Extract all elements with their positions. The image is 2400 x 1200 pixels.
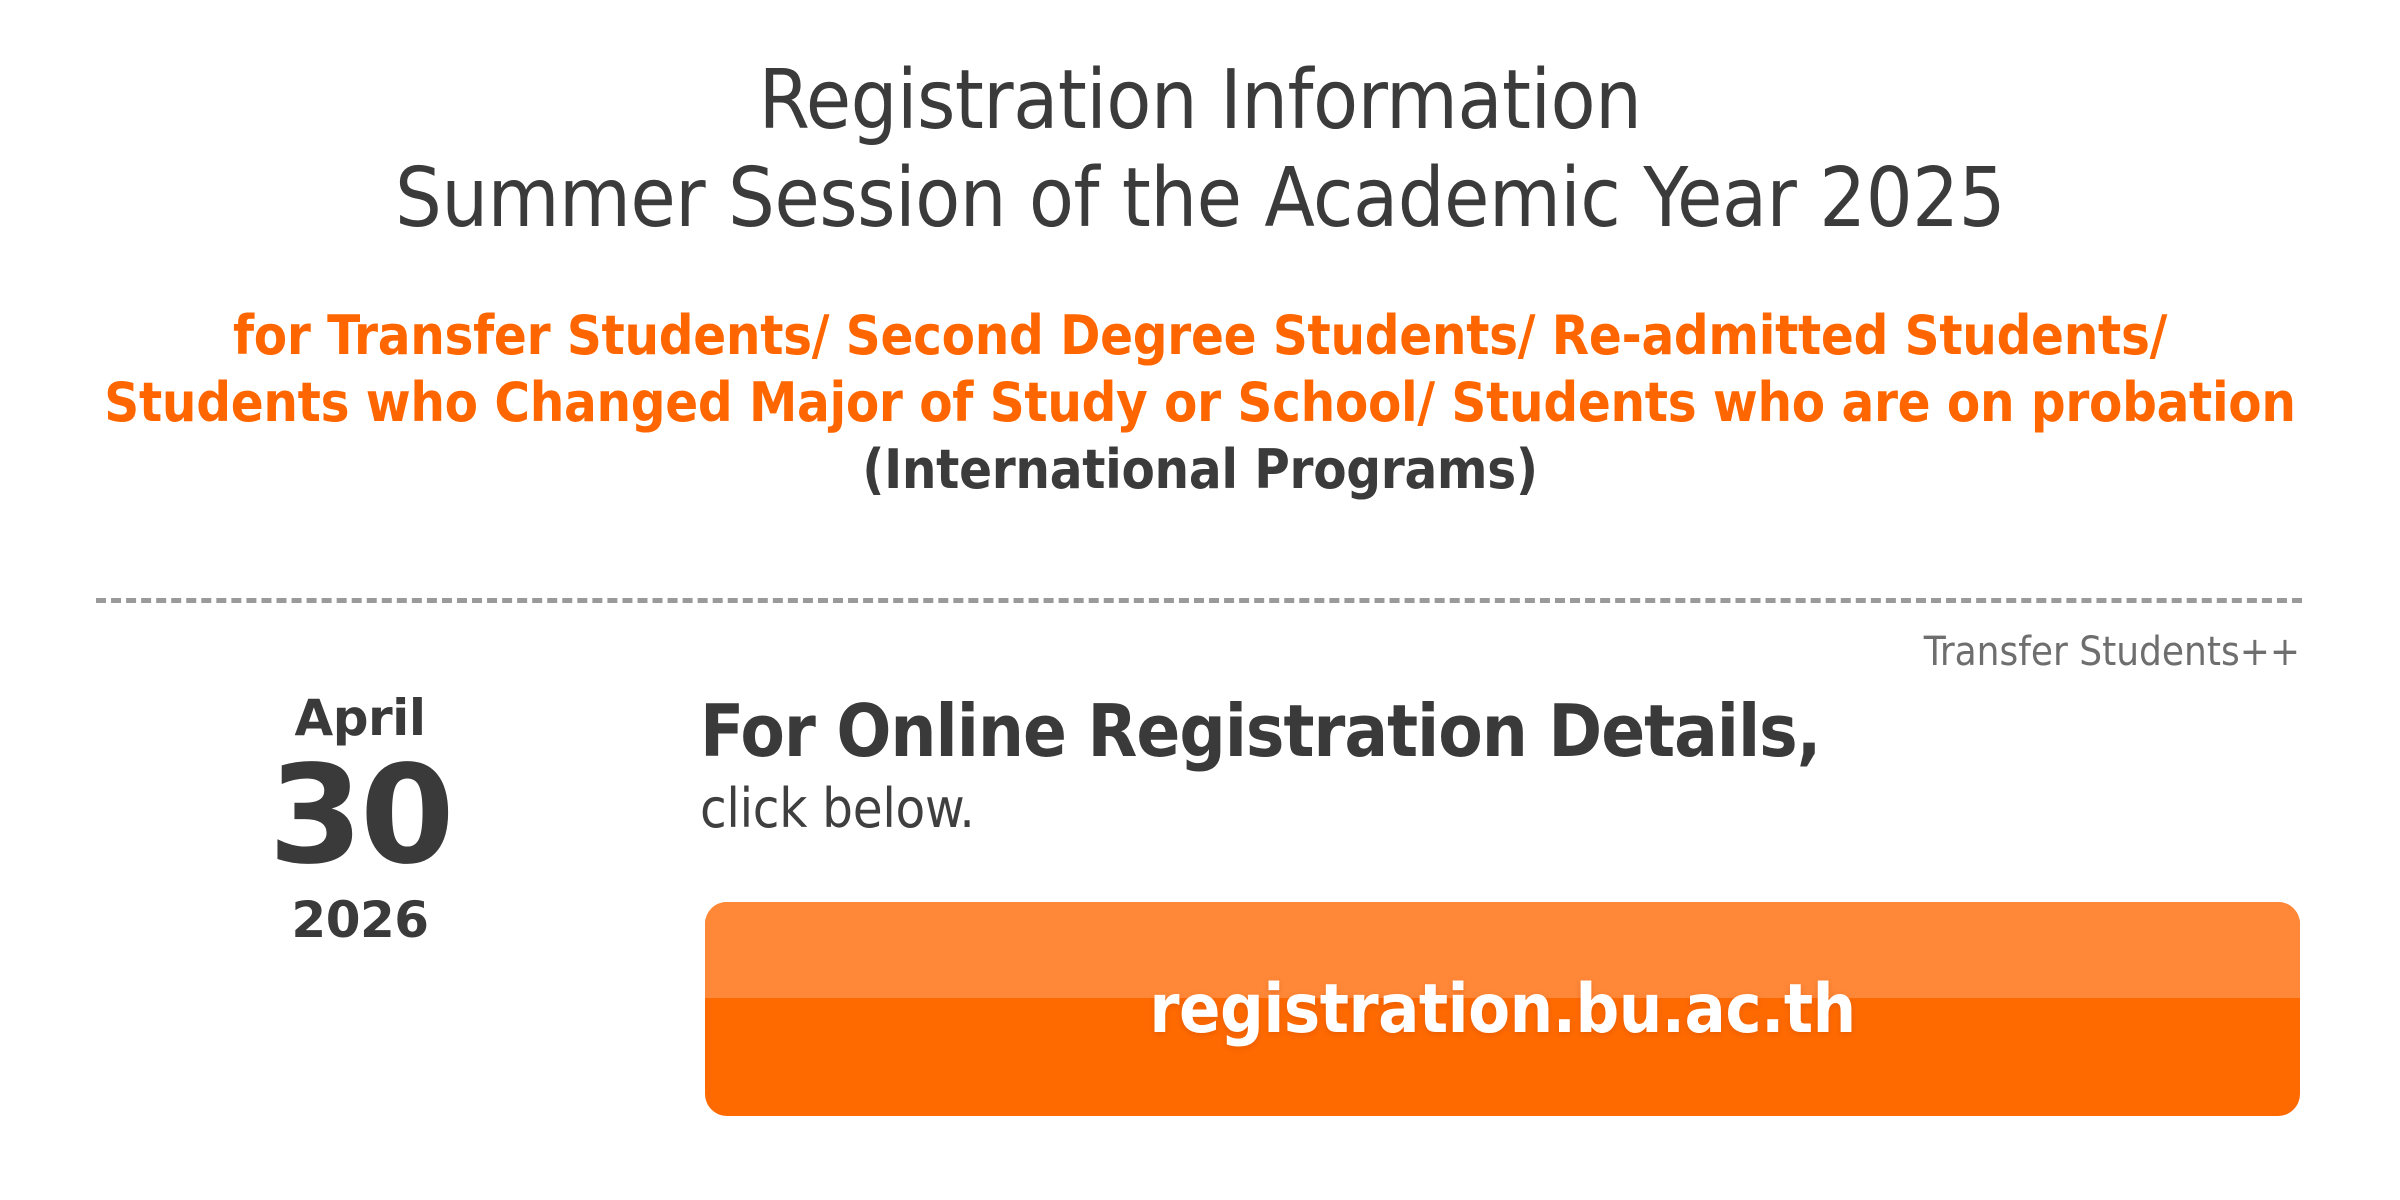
page-subtitle-block: for Transfer Students/ Second Degree Stu… (0, 302, 2400, 503)
deadline-year: 2026 (160, 892, 560, 948)
page-subtitle-line-3: (International Programs) (0, 436, 2400, 503)
page-title-line-1: Registration Information (0, 52, 2400, 150)
cta-text-block: For Online Registration Details, click b… (700, 690, 2310, 842)
cta-subtext: click below. (700, 776, 2310, 842)
registration-url-button[interactable]: registration.bu.ac.th (705, 902, 2300, 1116)
deadline-day: 30 (160, 754, 560, 878)
section-divider (96, 598, 2302, 603)
deadline-date-block: April 30 2026 (160, 690, 560, 948)
registration-url-label: registration.bu.ac.th (705, 902, 2300, 1116)
page-title-block: Registration Information Summer Session … (0, 52, 2400, 248)
registration-announcement-page: Registration Information Summer Session … (0, 0, 2400, 1200)
page-subtitle-line-1: for Transfer Students/ Second Degree Stu… (0, 302, 2400, 369)
page-subtitle-line-2: Students who Changed Major of Study or S… (0, 369, 2400, 436)
page-title-line-2: Summer Session of the Academic Year 2025 (0, 150, 2400, 248)
audience-tagline: Transfer Students++ (1924, 628, 2300, 676)
cta-heading: For Online Registration Details, (700, 690, 2310, 772)
